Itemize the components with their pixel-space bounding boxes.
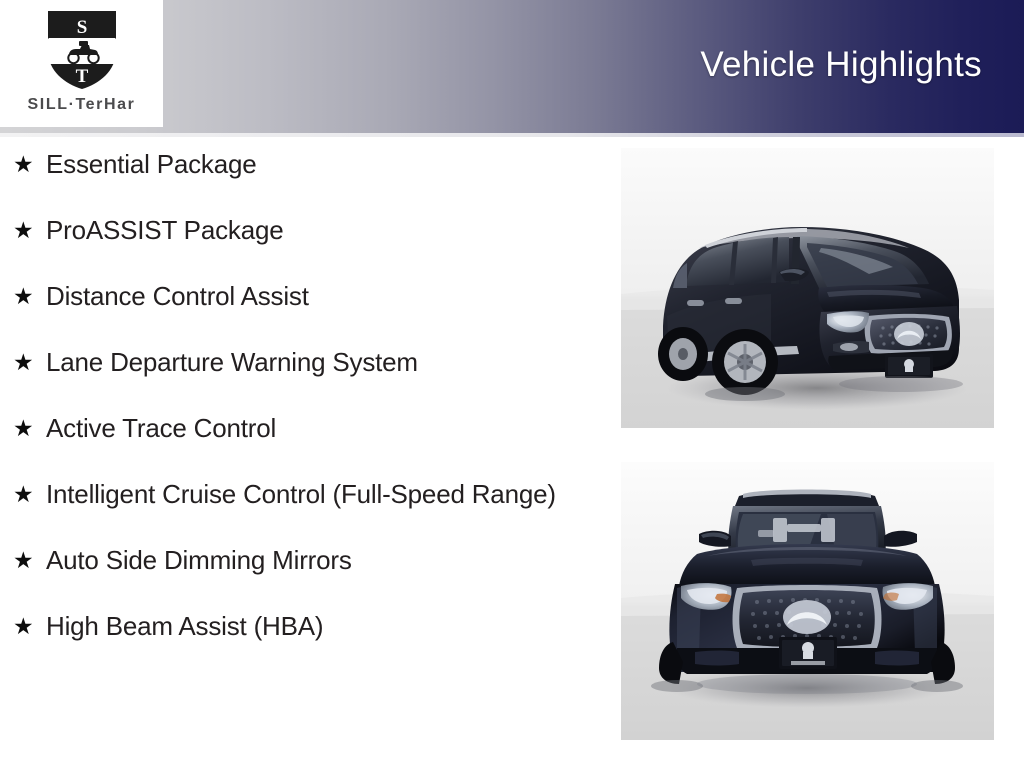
list-item: ★ Intelligent Cruise Control (Full-Speed…: [10, 476, 600, 512]
list-item-label: Auto Side Dimming Mirrors: [46, 545, 352, 575]
star-bullet-icon: ★: [13, 344, 33, 380]
star-bullet-icon: ★: [13, 212, 33, 248]
list-item-label: Essential Package: [46, 149, 257, 179]
list-item-label: Active Trace Control: [46, 413, 276, 443]
star-bullet-icon: ★: [13, 410, 33, 446]
list-item-label: Distance Control Assist: [46, 281, 309, 311]
list-item-label: High Beam Assist (HBA): [46, 611, 323, 641]
list-item: ★ Distance Control Assist: [10, 278, 600, 314]
dealer-wordmark: SILL·TerHar: [0, 96, 163, 114]
star-bullet-icon: ★: [13, 278, 33, 314]
svg-text:T: T: [76, 66, 89, 87]
star-bullet-icon: ★: [13, 608, 33, 644]
list-item-label: Lane Departure Warning System: [46, 347, 418, 377]
list-item: ★ Auto Side Dimming Mirrors: [10, 542, 600, 578]
shield-icon: S T: [46, 7, 118, 91]
list-item: ★ ProASSIST Package: [10, 212, 600, 248]
svg-text:S: S: [77, 17, 88, 38]
list-item: ★ Active Trace Control: [10, 410, 600, 446]
vehicle-photo-front-quarter[interactable]: Dark blue Infiniti QX60 SUV, front three…: [621, 148, 994, 428]
star-bullet-icon: ★: [13, 476, 33, 512]
star-bullet-icon: ★: [13, 146, 33, 182]
list-item: ★ High Beam Assist (HBA): [10, 608, 600, 644]
list-item-label: Intelligent Cruise Control (Full-Speed R…: [46, 479, 556, 509]
vehicle-photo-front[interactable]: Dark blue Infiniti QX60 SUV, head-on fro…: [621, 462, 994, 740]
list-item-label: ProASSIST Package: [46, 215, 283, 245]
star-bullet-icon: ★: [13, 542, 33, 578]
header-divider: [0, 133, 1024, 137]
page-title: Vehicle Highlights: [700, 45, 982, 85]
vehicle-highlights-list: ★ Essential Package ★ ProASSIST Package …: [10, 146, 600, 674]
list-item: ★ Essential Package: [10, 146, 600, 182]
list-item: ★ Lane Departure Warning System: [10, 344, 600, 380]
dealer-logo[interactable]: S T SILL·TerHar: [0, 0, 163, 127]
